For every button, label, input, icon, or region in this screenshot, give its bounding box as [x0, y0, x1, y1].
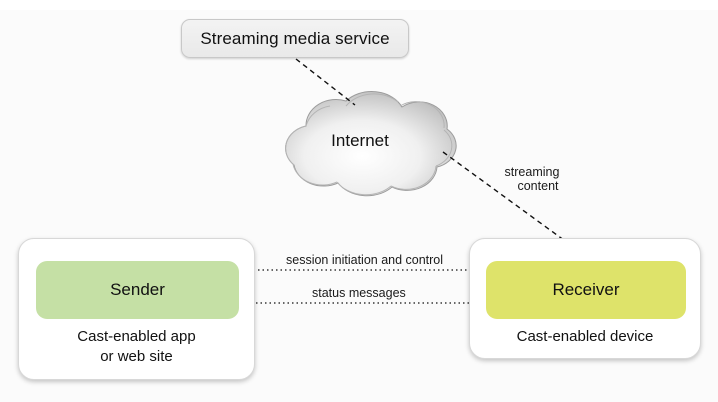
receiver-caption: Cast-enabled device	[470, 327, 700, 347]
receiver-caption-line1: Cast-enabled device	[470, 327, 700, 347]
streaming-content-label: streaming content	[486, 165, 578, 193]
sender-label: Sender	[110, 280, 165, 300]
sender-caption-line2: or web site	[19, 347, 254, 367]
streaming-content-label-line1: streaming	[505, 165, 560, 179]
sender-device-card[interactable]: Sender Cast-enabled app or web site	[18, 238, 255, 380]
status-messages-label: status messages	[312, 286, 406, 300]
streaming-media-service-node[interactable]: Streaming media service	[181, 19, 409, 58]
sender-node[interactable]: Sender	[36, 261, 239, 319]
cloud-shape-icon	[248, 84, 468, 198]
sender-caption: Cast-enabled app or web site	[19, 327, 254, 367]
streaming-content-label-line2: content	[486, 179, 578, 193]
session-initiation-and-control-label: session initiation and control	[286, 253, 443, 267]
receiver-device-card[interactable]: Receiver Cast-enabled device	[469, 238, 701, 359]
streaming-media-service-label: Streaming media service	[200, 29, 389, 49]
diagram-canvas: Streaming media service Internet	[0, 0, 718, 402]
receiver-label: Receiver	[552, 280, 619, 300]
receiver-node[interactable]: Receiver	[486, 261, 686, 319]
sender-caption-line1: Cast-enabled app	[19, 327, 254, 347]
internet-cloud-node[interactable]: Internet	[248, 84, 468, 198]
